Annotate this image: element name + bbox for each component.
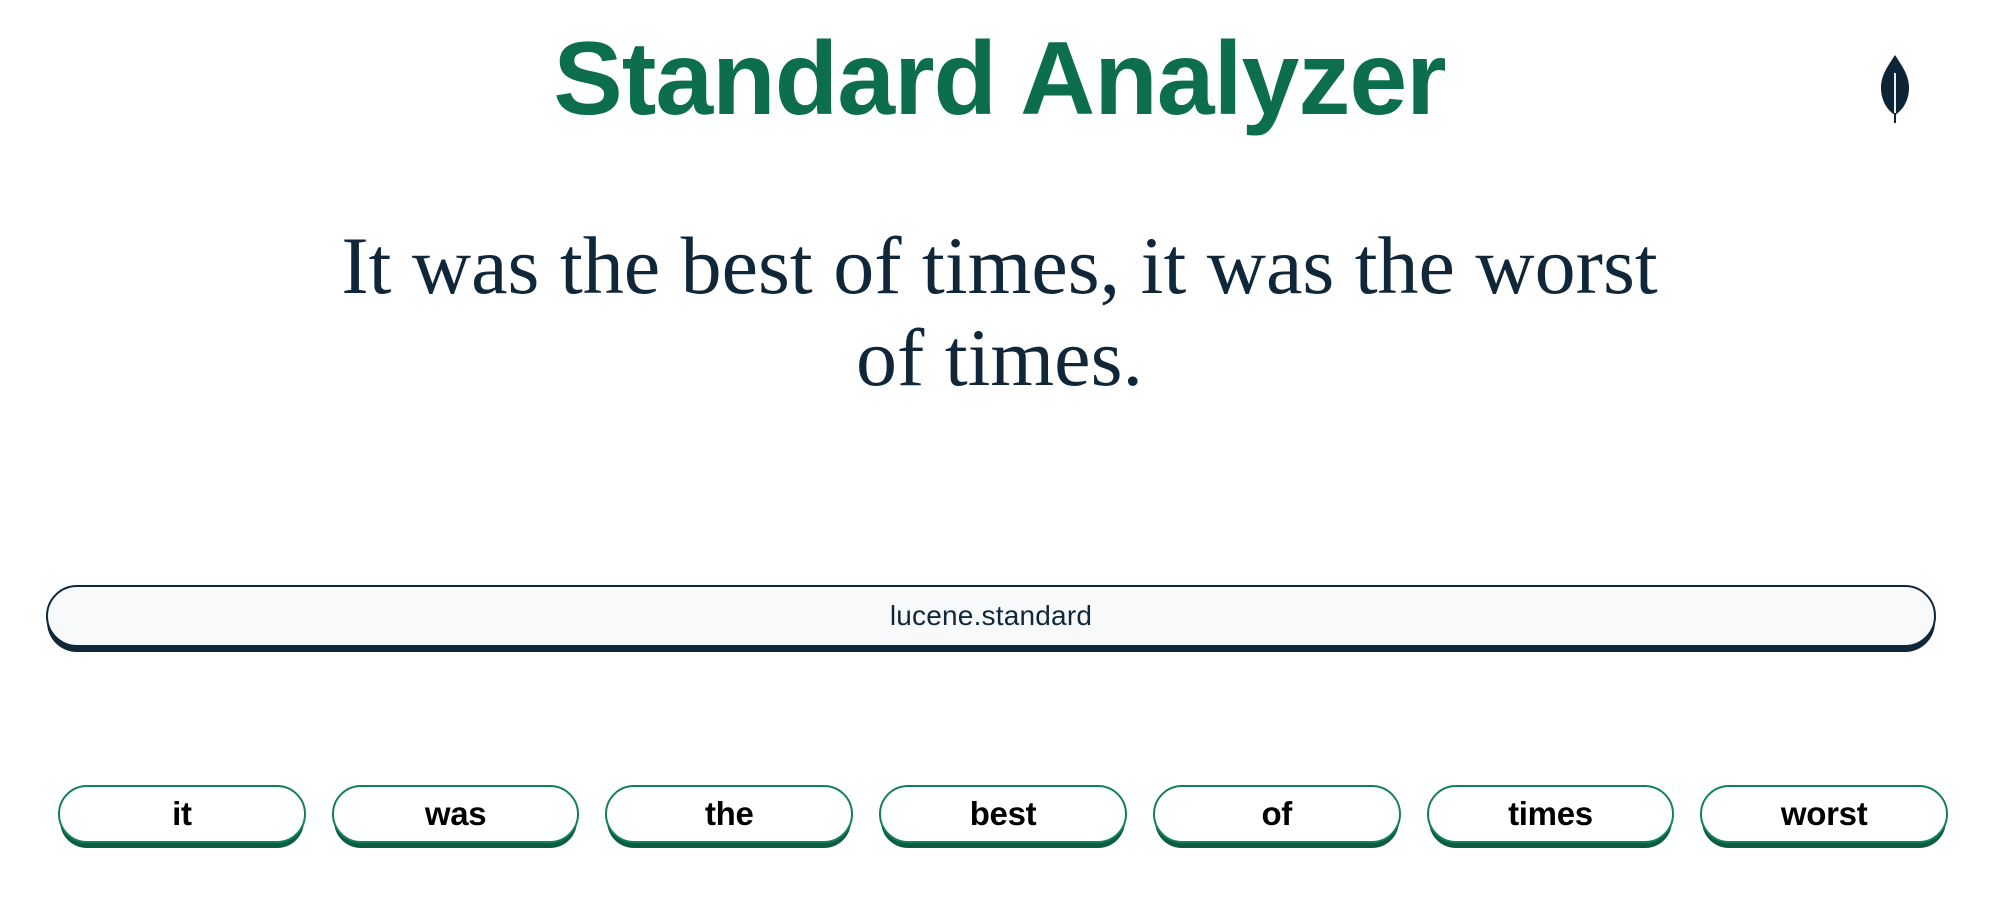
token-label: worst: [1781, 795, 1868, 833]
token-label: it: [172, 795, 192, 833]
token-list: it was the best of times worst: [58, 785, 1948, 865]
token-label: times: [1508, 795, 1593, 833]
analyzer-field-wrapper: lucene.standard: [46, 585, 1936, 653]
mongodb-leaf-icon: [1878, 55, 1912, 123]
page-title: Standard Analyzer: [0, 20, 1999, 140]
page-header: Standard Analyzer: [0, 0, 1999, 160]
token-label: best: [970, 795, 1037, 833]
token-chip[interactable]: times: [1427, 785, 1675, 843]
token-chip[interactable]: best: [879, 785, 1127, 843]
token-label: of: [1261, 795, 1292, 833]
analyzer-select[interactable]: lucene.standard: [46, 585, 1936, 647]
analyzer-selected-value: lucene.standard: [890, 600, 1092, 632]
token-chip[interactable]: worst: [1700, 785, 1948, 843]
token-chip[interactable]: the: [605, 785, 853, 843]
token-chip[interactable]: of: [1153, 785, 1401, 843]
sample-text: It was the best of times, it was the wor…: [300, 220, 1700, 404]
token-label: the: [705, 795, 754, 833]
token-chip[interactable]: was: [332, 785, 580, 843]
token-label: was: [425, 795, 486, 833]
token-chip[interactable]: it: [58, 785, 306, 843]
